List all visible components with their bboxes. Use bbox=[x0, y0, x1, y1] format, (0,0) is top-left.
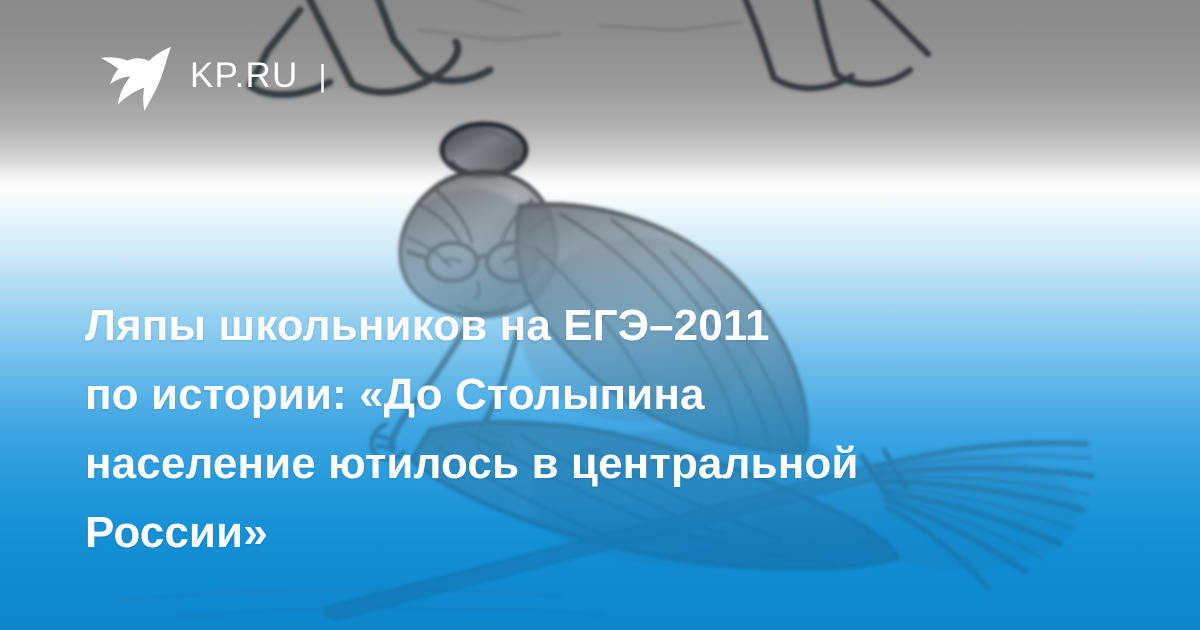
page-title-line-1: Ляпы школьников на ЕГЭ–2011 bbox=[85, 291, 1105, 360]
page-title: Ляпы школьников на ЕГЭ–2011 по истории: … bbox=[85, 291, 1105, 567]
brand-separator: | bbox=[318, 60, 326, 91]
share-card: KP.RU | Ляпы школьников на ЕГЭ–2011 по и… bbox=[0, 0, 1200, 630]
page-title-line-2: по истории: «До Столыпина bbox=[85, 360, 1105, 429]
swallow-bird-icon bbox=[96, 36, 174, 114]
brand-name: KP.RU bbox=[190, 58, 298, 93]
page-title-line-4: России» bbox=[85, 498, 1105, 567]
brand-bar[interactable]: KP.RU | bbox=[96, 36, 327, 114]
page-title-line-3: население ютилось в центральной bbox=[85, 429, 1105, 498]
